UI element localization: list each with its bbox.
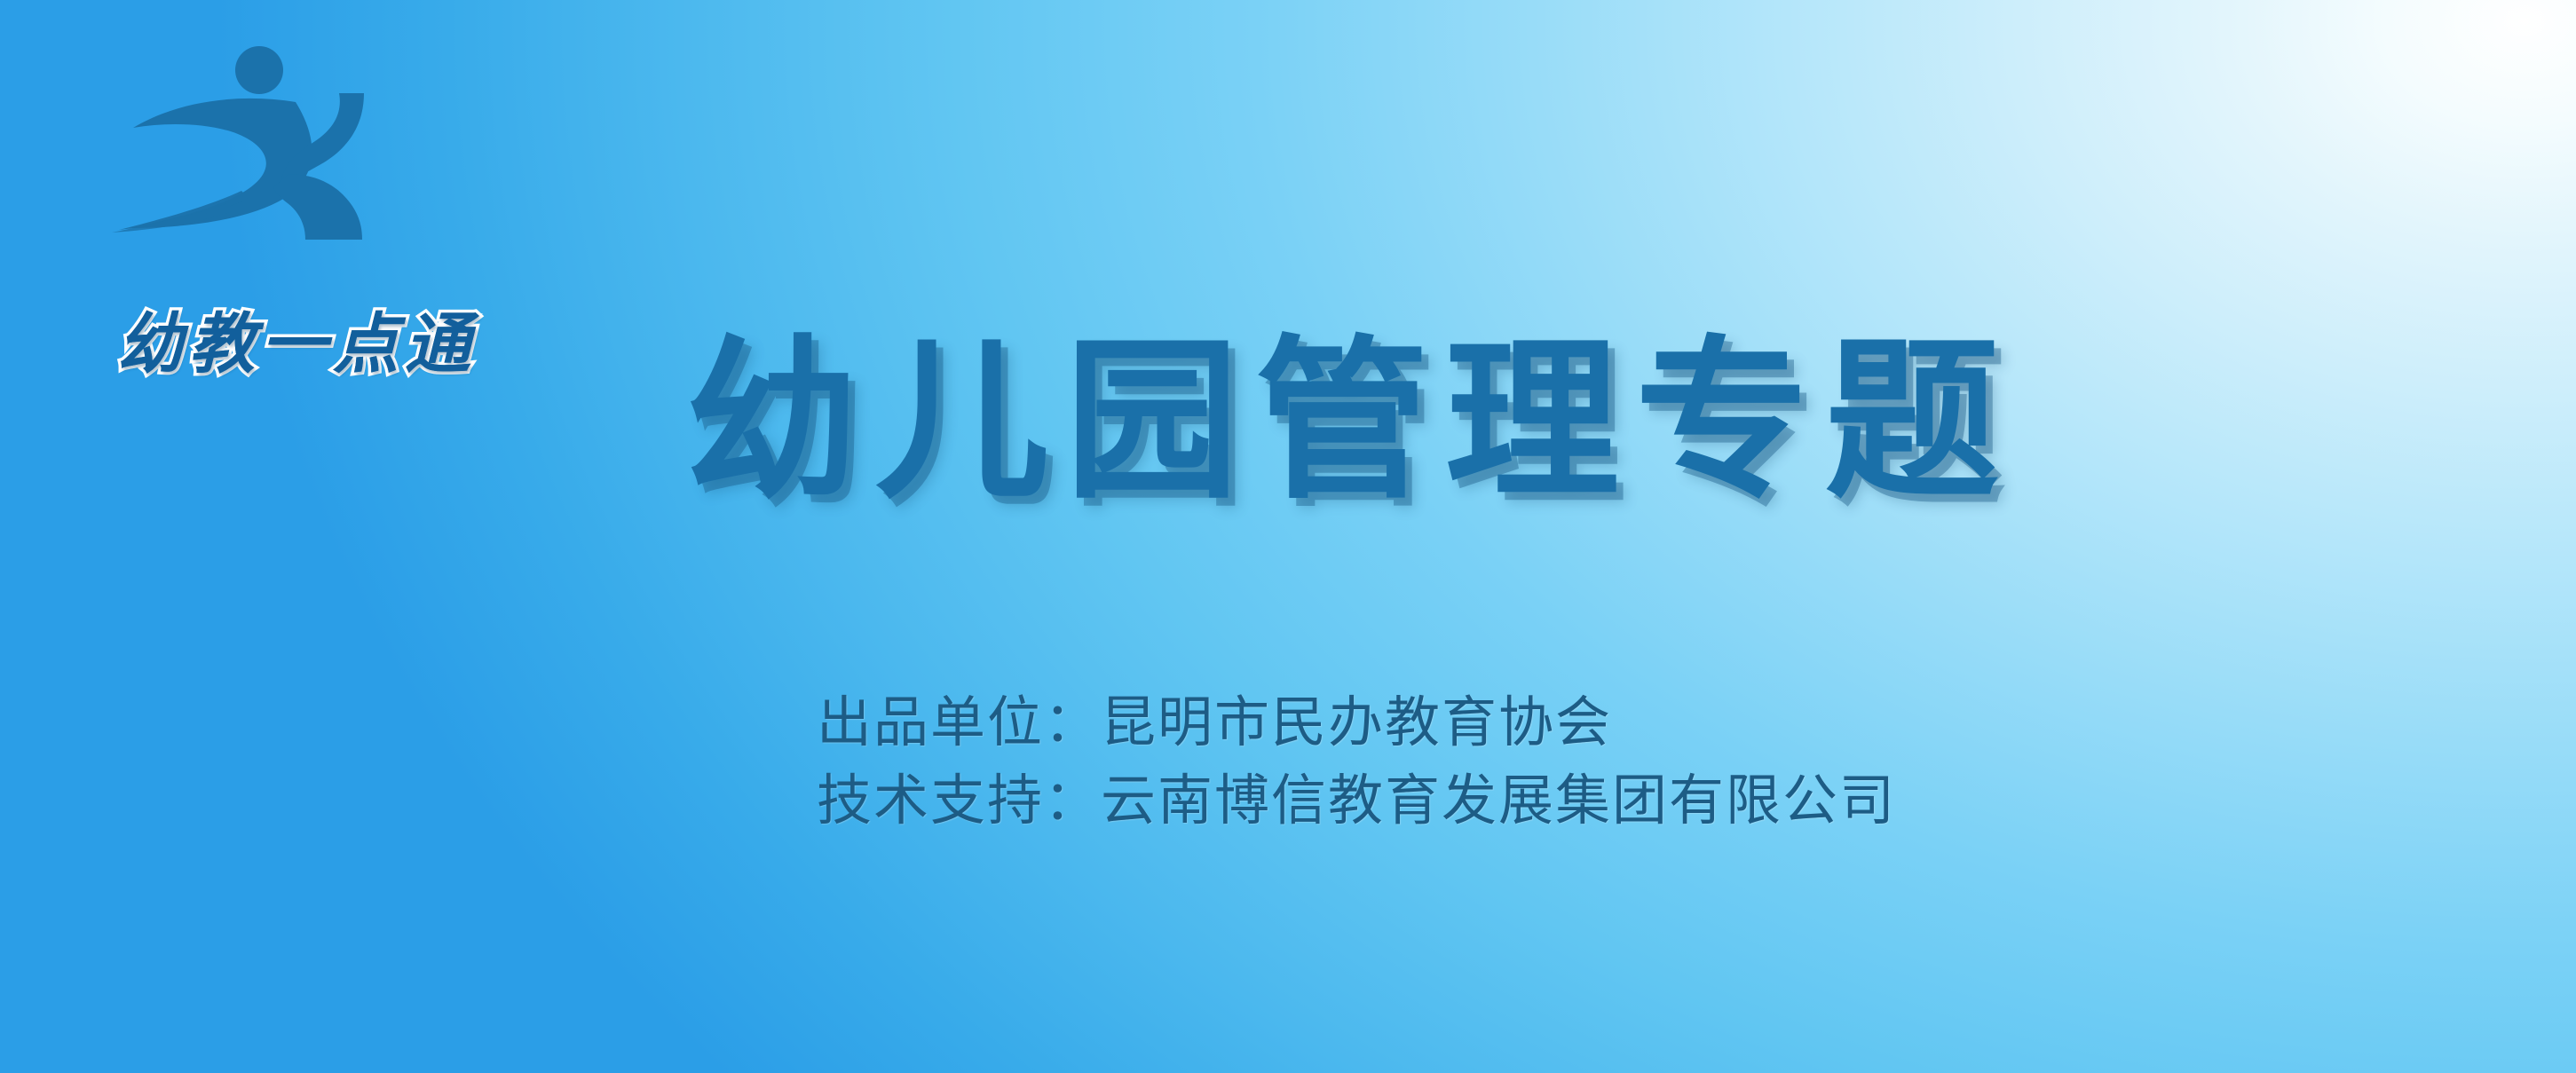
credit-line-tech-support: 技术支持：云南博信教育发展集团有限公司 bbox=[817, 761, 2326, 840]
slide-credits: 出品单位：昆明市民办教育协会 技术支持：云南博信教育发展集团有限公司 bbox=[817, 683, 2326, 840]
slide-title: 幼儿园管理专题 bbox=[0, 315, 2576, 528]
credit-line-producer: 出品单位：昆明市民办教育协会 bbox=[817, 683, 2326, 761]
running-figure-icon bbox=[107, 40, 373, 244]
title-slide: 幼教一点通 幼教一点通 幼儿园管理专题 出品单位：昆明市民办教育协会 技术支持：… bbox=[0, 0, 2576, 1073]
